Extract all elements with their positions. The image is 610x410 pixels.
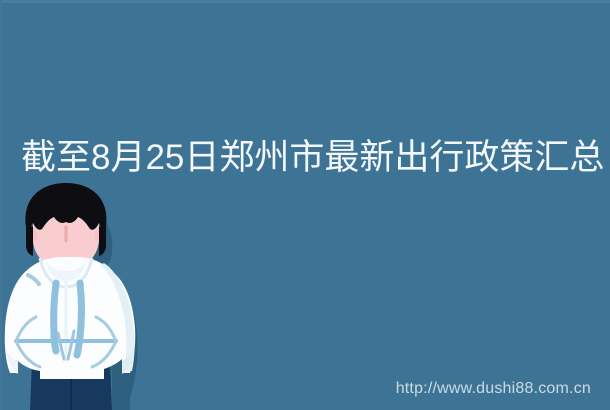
hair-side-left bbox=[26, 223, 33, 256]
person-illustration bbox=[0, 183, 150, 410]
page-title: 截至8月25日郑州市最新出行政策汇总 bbox=[21, 136, 589, 180]
poster-canvas: 截至8月25日郑州市最新出行政策汇总 http://www.dushi88.co… bbox=[0, 0, 610, 410]
top-edge-strip bbox=[0, 0, 610, 3]
watermark-url: http://www.dushi88.com.cn bbox=[396, 380, 591, 398]
